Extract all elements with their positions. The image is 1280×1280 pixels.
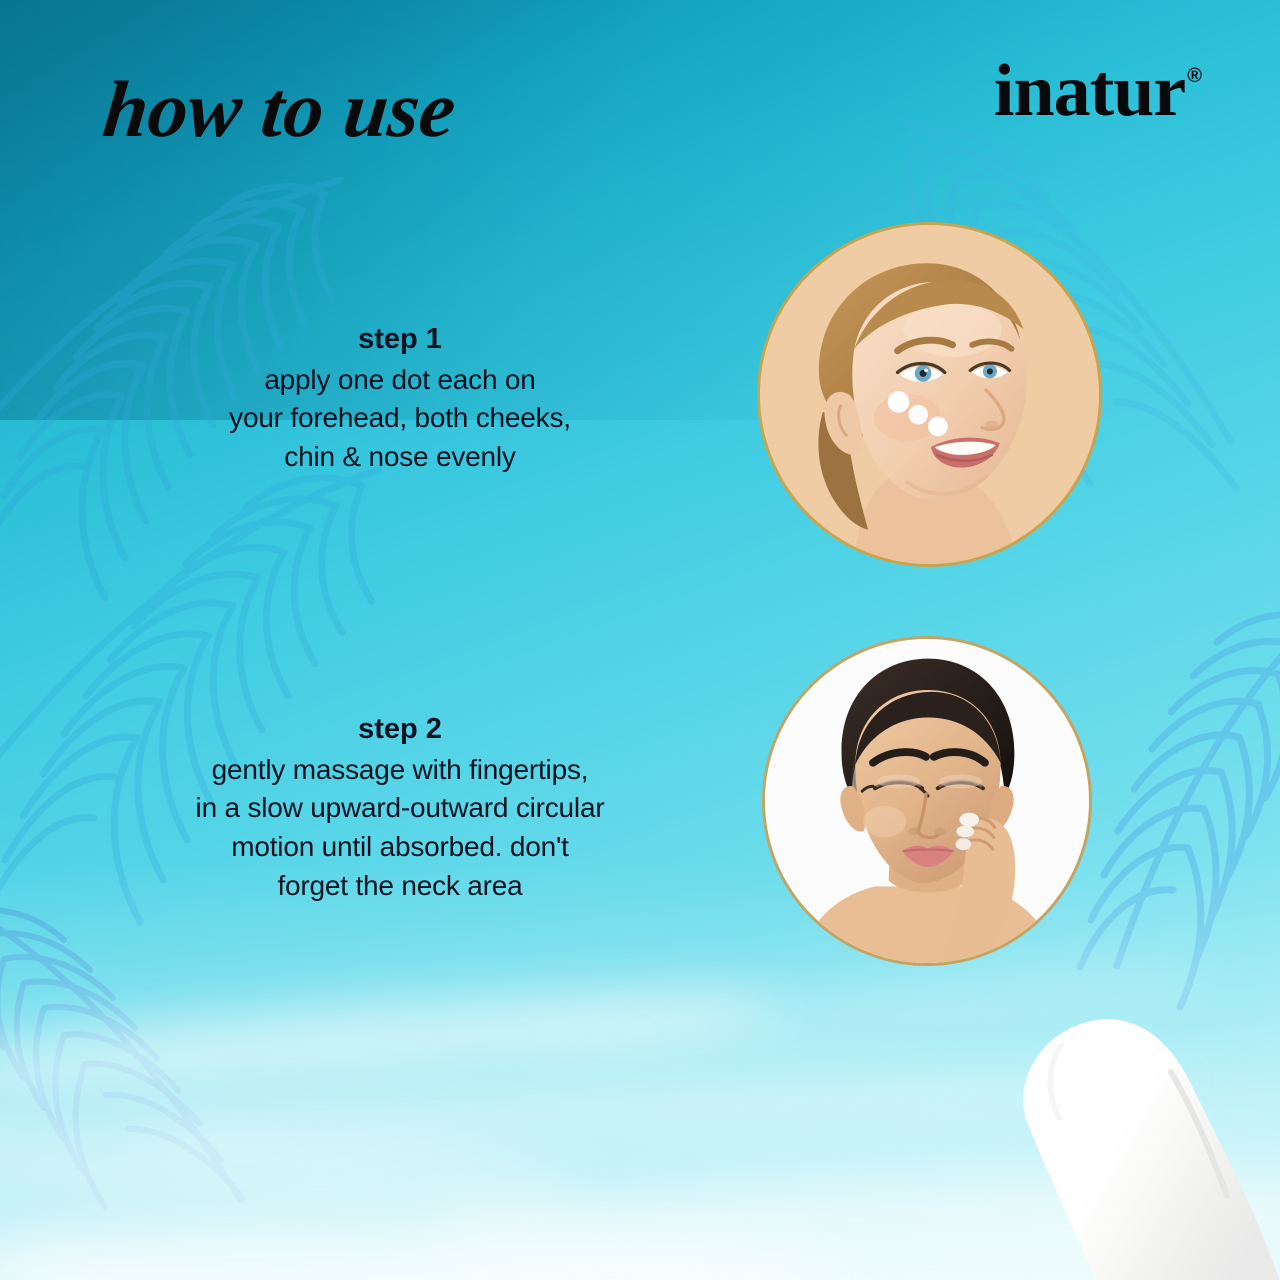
page-title-text: how to use — [99, 66, 459, 154]
cream-dot — [888, 391, 910, 413]
brand-name: inatur — [994, 56, 1185, 127]
brand-logo: inatur ® — [994, 56, 1202, 127]
background-bottom-wash — [0, 860, 1280, 1280]
registered-trademark-icon: ® — [1187, 66, 1202, 86]
step-2-photo — [762, 636, 1092, 966]
cream-dot — [908, 405, 928, 425]
step-2-body: gently massage with fingertips, in a slo… — [60, 751, 740, 906]
step-1-text-block: step 1 apply one dot each on your forehe… — [92, 322, 708, 477]
step-1-photo — [757, 222, 1102, 567]
page-title: how to use — [96, 52, 516, 162]
how-to-use-infographic: how to use inatur ® step 1 apply one dot… — [0, 0, 1280, 1280]
step-2-text-block: step 2 gently massage with fingertips, i… — [60, 712, 740, 905]
cream-dot — [928, 417, 948, 437]
step-1-heading: step 1 — [92, 322, 708, 357]
step-2-heading: step 2 — [60, 712, 740, 747]
step-1-body: apply one dot each on your forehead, bot… — [92, 361, 708, 477]
